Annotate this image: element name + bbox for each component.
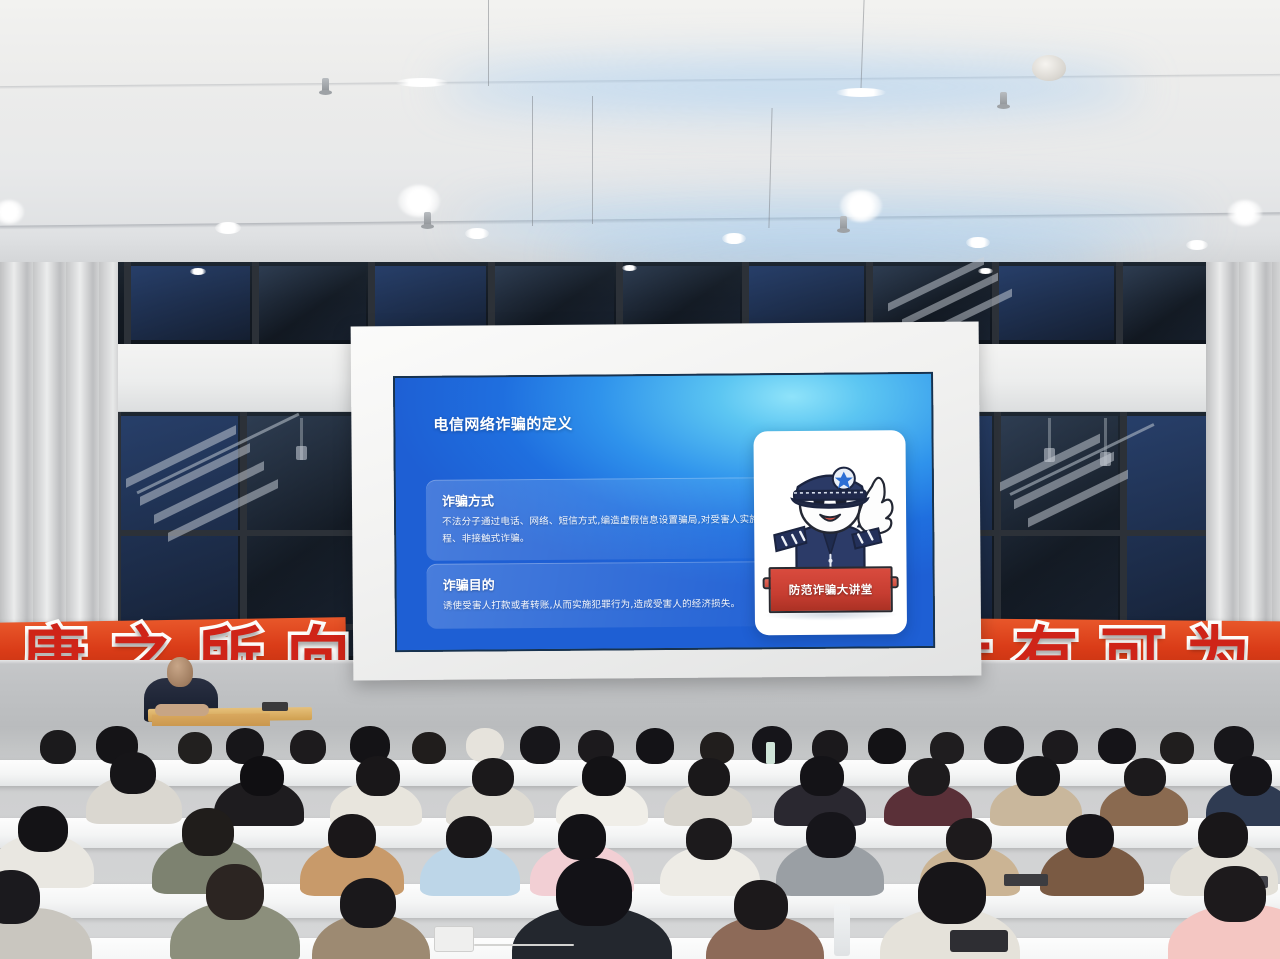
audience-head: [800, 756, 844, 796]
glass-pane: [130, 266, 250, 340]
audience-head: [556, 858, 632, 926]
desk-bottle: [834, 904, 850, 956]
audience-head: [868, 728, 906, 764]
audience-head: [520, 726, 560, 764]
audience-head: [918, 862, 986, 924]
ceiling-downlight: [722, 233, 746, 244]
window-mullion: [124, 262, 131, 344]
audience-head: [340, 878, 396, 928]
window-mullion: [1116, 262, 1123, 344]
audience-head: [1066, 814, 1114, 858]
led-screen[interactable]: 电信网络诈骗的定义 诈骗方式 不法分子通过电话、网络、短信方式,编造虚假信息设置…: [393, 372, 935, 652]
audience-head: [18, 806, 68, 852]
ceiling-downlight: [836, 88, 886, 97]
ceiling-downlight: [966, 237, 990, 248]
speaker-hands: [155, 704, 209, 716]
audience-head: [328, 814, 376, 858]
audience-head: [806, 812, 856, 858]
window-mullion: [252, 262, 259, 344]
led-screen-frame: 电信网络诈骗的定义 诈骗方式 不法分子通过电话、网络、短信方式,编造虚假信息设置…: [351, 322, 982, 681]
audience-seating: [0, 726, 1280, 959]
podium-label: 防范诈骗大讲堂: [771, 581, 891, 598]
ceiling: [0, 0, 1280, 268]
mascot-illustration-card: 防范诈骗大讲堂: [753, 430, 907, 635]
audience-head: [178, 732, 212, 764]
sprinkler-head: [424, 212, 431, 227]
audience-head: [40, 730, 76, 764]
ceiling-downlight: [215, 222, 241, 234]
speaker-officer-head: [167, 657, 193, 687]
window-curtain-right: [1206, 262, 1280, 666]
ceiling-downlight: [0, 200, 24, 224]
sprinkler-head: [322, 78, 329, 93]
audience-head: [110, 752, 156, 794]
ceiling-downlight: [396, 78, 448, 87]
glass-pane: [998, 266, 1114, 340]
audience-head: [1124, 758, 1166, 796]
ceiling-downlight: [398, 185, 440, 217]
audience-head: [908, 758, 950, 796]
lecture-hall-photo: 康之所向 大有可为 电信网络诈骗的定义 诈骗方式 不法分子通过电话、网络、短信方…: [0, 0, 1280, 959]
ceiling-hanging-wire: [532, 96, 533, 226]
desk-cable: [474, 944, 574, 946]
ceiling-seam: [0, 74, 1280, 89]
pendant-lamp: [300, 418, 303, 460]
background-ceiling-light: [622, 265, 637, 271]
card-heading: 诈骗目的: [443, 572, 773, 594]
smoke-detector-icon: [1032, 55, 1066, 81]
audience-head: [182, 808, 234, 856]
audience-head: [558, 814, 606, 860]
ceiling-hanging-wire: [768, 108, 772, 228]
sprinkler-head: [840, 216, 847, 231]
audience-head: [446, 816, 492, 858]
audience-head: [356, 756, 400, 796]
desk-bottle: [766, 742, 775, 764]
audience-head: [1016, 756, 1060, 796]
background-ceiling-light: [190, 268, 206, 275]
audience-head: [466, 728, 504, 762]
slide-card-fraud-method: 诈骗方式 不法分子通过电话、网络、短信方式,编造虚假信息设置骗局,对受害人实施远…: [426, 477, 789, 561]
audience-head: [636, 728, 674, 764]
audience-head: [240, 756, 284, 796]
pendant-lamp: [1104, 418, 1107, 466]
card-body-text: 不法分子通过电话、网络、短信方式,编造虚假信息设置骗局,对受害人实施远程、非接触…: [442, 512, 772, 548]
ceiling-seam: [0, 212, 1280, 229]
audience-head: [412, 732, 446, 764]
audience-head: [1198, 812, 1248, 858]
window-curtain-left: [0, 262, 118, 666]
audience-head: [472, 758, 514, 796]
desk-device: [950, 930, 1008, 952]
audience-head: [686, 818, 732, 860]
audience-head: [1098, 728, 1136, 764]
desk-device: [1004, 874, 1048, 886]
audience-head: [734, 880, 788, 930]
audience-head: [984, 726, 1024, 764]
audience-head: [1204, 866, 1266, 922]
card-heading: 诈骗方式: [442, 488, 772, 510]
presentation-slide: 电信网络诈骗的定义 诈骗方式 不法分子通过电话、网络、短信方式,编造虚假信息设置…: [395, 374, 933, 650]
desk-power-outlet: [434, 926, 474, 952]
background-ceiling-light: [978, 268, 993, 274]
card-body-text: 诱使受害人打款或者转账,从而实施犯罪行为,造成受害人的经济损失。: [443, 596, 773, 615]
audience-head: [946, 818, 992, 860]
lectern-item: [262, 702, 288, 711]
ceiling-downlight: [1228, 200, 1262, 226]
audience-head: [206, 864, 264, 920]
audience-head: [290, 730, 326, 764]
audience-head: [582, 756, 626, 796]
audience-head: [688, 758, 730, 796]
ceiling-hanging-wire: [592, 96, 593, 224]
audience-head: [1230, 756, 1272, 796]
slide-title: 电信网络诈骗的定义: [433, 413, 573, 435]
ceiling-downlight: [465, 228, 489, 239]
ceiling-downlight: [1186, 240, 1208, 250]
podium: 防范诈骗大讲堂: [769, 566, 893, 613]
ceiling-hanging-wire: [860, 0, 864, 90]
slide-card-fraud-purpose: 诈骗目的 诱使受害人打款或者转账,从而实施犯罪行为,造成受害人的经济损失。: [426, 561, 788, 628]
audience-head: [1160, 732, 1194, 764]
sprinkler-head: [1000, 92, 1007, 107]
ceiling-hanging-wire: [488, 0, 489, 86]
pendant-lamp: [1048, 418, 1051, 462]
